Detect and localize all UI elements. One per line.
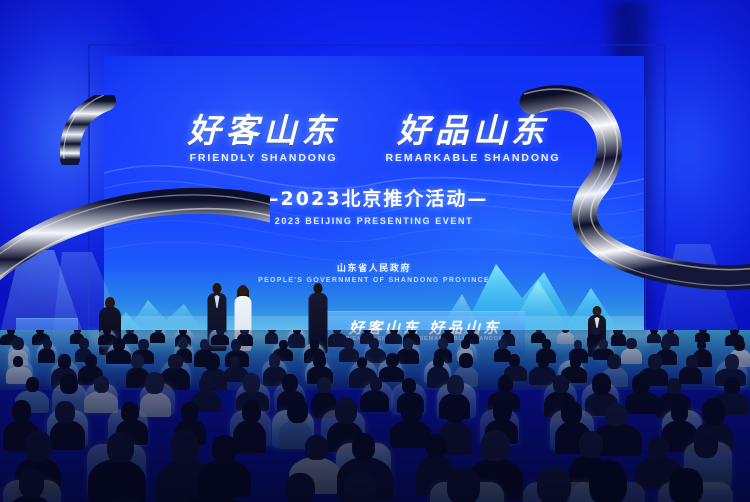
audience-member-shoulders (621, 348, 642, 364)
audience-member-head (168, 354, 183, 370)
audience-member-head (669, 468, 703, 502)
audience-member-shoulders (106, 349, 131, 364)
audience-member-head (402, 378, 416, 393)
audience-member-head (574, 340, 582, 349)
audience-member-head (171, 430, 198, 463)
audience-member-head (570, 356, 581, 368)
audience-member-shoulders (150, 332, 165, 343)
audience-member-head (553, 375, 569, 393)
audience-member-head (369, 338, 379, 349)
headline-row: 好客山东 FRIENDLY SHANDONG 好品山东 REMARKABLE S… (104, 114, 644, 164)
event-stage-photo: 好客山东 FRIENDLY SHANDONG 好品山东 REMARKABLE S… (0, 0, 750, 502)
audience-member-head (287, 398, 308, 424)
audience-member-head (310, 339, 319, 349)
audience-member-head (74, 330, 81, 334)
audience-member-head (55, 401, 75, 423)
audience-member-head (179, 330, 187, 335)
headline-en-right: REMARKABLE SHANDONG (386, 152, 561, 164)
audience-member-head (212, 435, 237, 462)
audience-member-head (697, 340, 707, 350)
audience-member-shoulders (679, 366, 702, 384)
audience-member-shoulders (647, 333, 661, 344)
audience-member-head (107, 432, 134, 463)
headline-remarkable-shandong: 好品山东 REMARKABLE SHANDONG (386, 114, 561, 164)
audience-member-head (589, 460, 627, 502)
audience-member-head (230, 356, 240, 367)
audience-member-head (426, 434, 446, 457)
audience-member-shoulders (84, 391, 118, 414)
audience-member-head (231, 339, 241, 351)
audience-member-shoulders (385, 333, 402, 344)
audience-member-head (282, 374, 298, 393)
audience-member-head (725, 354, 740, 370)
audience-member-shoulders (390, 420, 431, 448)
audience-member-head (537, 467, 572, 502)
organizer-cn: 山东省人民政府 (104, 261, 644, 274)
audience-member-head (26, 377, 39, 392)
audience-member-shoulders (360, 390, 389, 412)
audience-member-head (724, 377, 740, 394)
audience-member-head (240, 330, 249, 335)
audience-member-head (269, 353, 281, 367)
audience-member-head (19, 468, 44, 498)
audience-member-shoulders (379, 366, 404, 382)
audience-member-head (605, 403, 627, 426)
headline-cn-right: 好品山东 (386, 114, 561, 148)
audience-member-head (305, 435, 328, 460)
audience-member-head (94, 376, 109, 393)
audience-member-head (357, 357, 368, 368)
audience-member-head (433, 355, 444, 368)
audience-member-head (13, 356, 23, 367)
audience-member-head (390, 330, 398, 334)
audience-member-head (60, 374, 78, 394)
audience-member-head (401, 400, 422, 423)
audience-member-head (447, 467, 480, 502)
audience-member-head (285, 473, 315, 502)
headline-cn-left: 好客山东 (188, 114, 340, 148)
audience-member-head (121, 402, 139, 422)
audience-member-shoulders (557, 332, 574, 344)
audience-member-head (199, 377, 212, 393)
event-title-cn: —2023北京推介活动— (104, 184, 644, 211)
audience-member-head (12, 337, 24, 351)
head (239, 285, 248, 296)
audience-member-head (243, 373, 260, 393)
audience-member-head (352, 433, 375, 460)
audience-member-head (317, 377, 331, 392)
audience-member-head (613, 330, 622, 335)
audience-member-head (138, 339, 148, 350)
audience-member-head (498, 375, 513, 393)
audience-member-head (145, 372, 164, 395)
audience-member-head (131, 354, 144, 368)
audience-member-head (12, 400, 31, 423)
audience-member-head (702, 398, 725, 425)
organizer-en: PEOPLE'S GOVERNMENT OF SHANDONG PROVINCE (104, 277, 644, 284)
audience-member-shoulders (611, 333, 626, 345)
audience-member-head (370, 377, 382, 391)
audience-member-head (591, 330, 600, 335)
audience-member-head (204, 353, 220, 370)
audience-member-head (648, 354, 662, 368)
audience-member-head (538, 354, 549, 367)
audience-member-shoulders (38, 348, 55, 363)
audience-member-head (607, 354, 621, 369)
led-screen: 好客山东 FRIENDLY SHANDONG 好品山东 REMARKABLE S… (104, 56, 644, 338)
audience-member-head (386, 353, 399, 368)
audience-member-head (438, 338, 448, 349)
audience-member-head (632, 374, 650, 394)
audience-member-head (43, 339, 52, 349)
audience-member-head (481, 430, 510, 461)
audience-member-head (335, 397, 358, 425)
audience-member-head (181, 402, 197, 422)
audience-member-head (667, 330, 674, 334)
audience-member-head (445, 399, 465, 423)
audience-member-head (344, 472, 375, 502)
audience-member-head (313, 354, 326, 368)
audience-member-head (178, 337, 188, 349)
audience-member-head (542, 339, 551, 349)
audience-member-shoulders (625, 391, 659, 414)
audience-member-shoulders (50, 420, 85, 450)
audience-member-head (626, 338, 637, 349)
audience-member-shoulders (288, 333, 305, 348)
audience-area (0, 330, 750, 502)
audience-member-head (79, 338, 89, 349)
audience-member-head (242, 400, 261, 423)
audience-member-head (343, 338, 353, 349)
headline-friendly-shandong: 好客山东 FRIENDLY SHANDONG (188, 114, 340, 164)
audience-member-head (447, 375, 464, 396)
audience-member-head (279, 340, 287, 349)
audience-member-head (113, 338, 125, 351)
audience-member-head (498, 339, 507, 349)
audience-member-head (686, 355, 698, 368)
event-title-en: 2023 BEIJING PRESENTING EVENT (104, 216, 644, 226)
audience-member-head (459, 353, 473, 368)
audience-member-head (118, 470, 141, 498)
audience-member-head (85, 354, 97, 367)
audience-member-shoulders (397, 348, 418, 363)
audience-member-head (561, 401, 581, 424)
screen-headline-block: 好客山东 FRIENDLY SHANDONG 好品山东 REMARKABLE S… (104, 114, 644, 226)
audience-member-head (734, 339, 745, 351)
audience-member-head (671, 402, 688, 422)
audience-member-head (694, 430, 718, 458)
audience-member-shoulders (233, 420, 267, 453)
audience-member-head (461, 339, 470, 349)
audience-member-head (493, 398, 512, 421)
audience-member-head (25, 431, 52, 461)
audience-member-head (205, 473, 228, 498)
headline-en-left: FRIENDLY SHANDONG (188, 152, 340, 164)
audience-member-head (579, 431, 603, 459)
audience-member-head (667, 378, 681, 393)
audience-member-head (592, 373, 611, 395)
audience-member-head (403, 338, 413, 350)
audience-member-head (661, 337, 671, 350)
audience-member-head (216, 330, 225, 335)
audience-member-head (599, 339, 609, 349)
audience-member-shoulders (265, 332, 278, 344)
audience-member-head (509, 354, 520, 367)
audience-member-shoulders (211, 334, 230, 346)
audience-member-head (648, 436, 669, 460)
audience-member-head (58, 354, 70, 369)
organizer-credit-block: 山东省人民政府 PEOPLE'S GOVERNMENT OF SHANDONG … (104, 261, 644, 284)
audience-member-head (7, 330, 15, 335)
audience-member-head (200, 339, 209, 350)
